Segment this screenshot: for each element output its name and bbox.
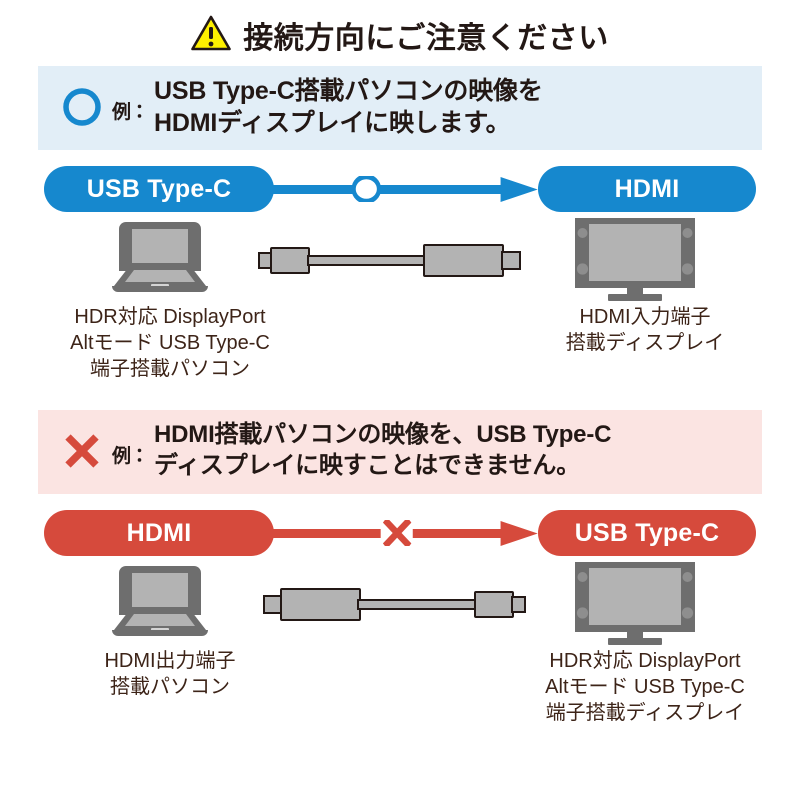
usbc-to-hdmi-cable-icon	[258, 242, 526, 283]
good-example-callout: 例： USB Type-C搭載パソコンの映像を HDMIディスプレイに映します。	[38, 66, 762, 150]
laptop-icon	[104, 562, 216, 643]
good-left-caption-line-2: Altモード USB Type-C	[10, 330, 330, 356]
monitor-icon	[570, 216, 700, 309]
circle-ok-icon	[56, 84, 108, 130]
good-callout-text: USB Type-C搭載パソコンの映像を HDMIディスプレイに映します。	[154, 75, 746, 139]
laptop-icon	[104, 218, 216, 299]
bad-example-callout: 例： HDMI搭載パソコンの映像を、USB Type-C ディスプレイに映すこと…	[38, 410, 762, 494]
good-left-caption-line-1: HDR対応 DisplayPort	[10, 304, 330, 330]
bad-flow-band: HDMI USB Type-C	[44, 510, 756, 556]
bad-right-caption-line-1: HDR対応 DisplayPort	[500, 648, 790, 674]
bad-callout-text: HDMI搭載パソコンの映像を、USB Type-C ディスプレイに映すことはでき…	[154, 420, 746, 481]
warning-triangle-icon	[191, 15, 231, 56]
good-arrow-connector	[254, 176, 558, 202]
good-source-pill: USB Type-C	[44, 166, 274, 212]
page-title: 接続方向にご注意ください	[243, 13, 608, 57]
cross-ng-icon	[56, 428, 108, 474]
bad-source-pill: HDMI	[44, 510, 274, 556]
section-spacer	[0, 396, 800, 410]
good-rei-label: 例：	[112, 97, 148, 136]
bad-left-caption-line-1: HDMI出力端子	[10, 648, 330, 674]
bad-caption-row: HDMI出力端子 搭載パソコン HDR対応 DisplayPort Altモード…	[0, 648, 800, 740]
page-title-row: 接続方向にご注意ください	[0, 0, 800, 66]
good-callout-line-2: HDMIディスプレイに映します。	[154, 107, 746, 139]
bad-left-caption: HDMI出力端子 搭載パソコン	[10, 648, 330, 700]
bad-left-caption-line-2: 搭載パソコン	[10, 674, 330, 700]
bad-target-pill: USB Type-C	[538, 510, 756, 556]
bad-rei-label: 例：	[112, 441, 148, 480]
good-left-caption: HDR対応 DisplayPort Altモード USB Type-C 端子搭載…	[10, 304, 330, 382]
monitor-icon	[570, 560, 700, 653]
good-right-caption-line-2: 搭載ディスプレイ	[500, 330, 790, 356]
good-callout-line-1: USB Type-C搭載パソコンの映像を	[154, 75, 746, 107]
good-target-pill: HDMI	[538, 166, 756, 212]
bad-callout-line-1: HDMI搭載パソコンの映像を、USB Type-C	[154, 420, 746, 451]
bad-right-caption-line-3: 端子搭載ディスプレイ	[500, 700, 790, 726]
good-left-caption-line-3: 端子搭載パソコン	[10, 356, 330, 382]
good-right-caption-line-1: HDMI入力端子	[500, 304, 790, 330]
good-right-caption: HDMI入力端子 搭載ディスプレイ	[500, 304, 790, 356]
bad-right-caption: HDR対応 DisplayPort Altモード USB Type-C 端子搭載…	[500, 648, 790, 726]
bad-callout-line-2: ディスプレイに映すことはできません。	[154, 451, 746, 482]
bad-arrow-connector	[254, 520, 558, 546]
good-flow-band: USB Type-C HDMI	[44, 166, 756, 212]
good-caption-row: HDR対応 DisplayPort Altモード USB Type-C 端子搭載…	[0, 304, 800, 396]
bad-illustration-row	[0, 562, 800, 648]
hdmi-to-usbc-cable-icon	[258, 586, 526, 627]
good-illustration-row	[0, 218, 800, 304]
bad-right-caption-line-2: Altモード USB Type-C	[500, 674, 790, 700]
